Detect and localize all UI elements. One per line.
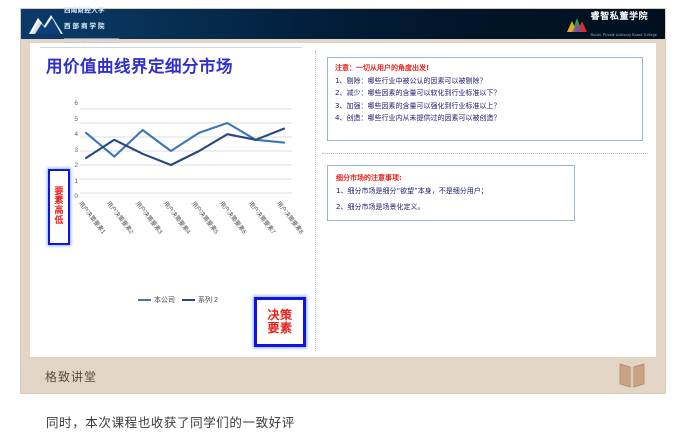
college-name-cn: 睿智私董学院 <box>591 11 649 21</box>
caution-box-heading: 细分市场的注意事项: <box>336 173 566 183</box>
note-box-item: 1、剔除：哪些行业中被公认的因素可以被剔除？ <box>335 77 635 86</box>
slide-content-area: 用价值曲线界定细分市场 6543210 用户决策要素1用户决策要素2用户决策要素… <box>30 43 656 357</box>
chart-y-tick: 2 <box>74 163 78 170</box>
legend-item: 本公司 <box>138 295 175 305</box>
chart-x-tick: 用户决策要素3 <box>134 199 165 236</box>
horizontal-divider <box>322 153 648 154</box>
page-title: 用价值曲线界定细分市场 <box>46 53 233 77</box>
y-axis-annotation-text: 要素高低 <box>54 188 63 227</box>
title-divider <box>40 47 302 48</box>
chart-x-tick: 用户决策要素7 <box>247 199 278 236</box>
legend-swatch <box>138 299 151 301</box>
chart-x-tick: 用户决策要素8 <box>275 199 306 236</box>
y-axis-annotation-box: 要素高低 <box>48 169 70 245</box>
legend-item: 系列 2 <box>182 295 218 305</box>
chart-x-axis-labels: 用户决策要素1用户决策要素2用户决策要素3用户决策要素4用户决策要素5用户决策要… <box>80 199 300 261</box>
caution-box: 细分市场的注意事项: 1、细分市场是细分“欲望”本身，不是细分用户；2、细分市场… <box>327 165 575 221</box>
chart-y-tick: 5 <box>74 117 78 124</box>
chart-x-tick: 用户决策要素2 <box>105 199 136 236</box>
vertical-divider <box>315 51 316 351</box>
note-box-item: 3、加强：哪些因素的含量可以强化到行业标准以上？ <box>335 102 635 111</box>
legend-label: 系列 2 <box>198 295 218 305</box>
chart-x-tick: 用户决策要素1 <box>77 199 108 236</box>
note-box-item: 4、创造：哪些行业内从未提供过的因素可以被创造？ <box>335 114 635 123</box>
note-box-items: 1、剔除：哪些行业中被公认的因素可以被剔除？2、减少：哪些因素的含量可以软化到行… <box>335 77 635 123</box>
college-logo-text: 睿智私董学院 Ruizhi Private Advisory Board Col… <box>591 7 657 41</box>
screenshot-root: 西南财经大学 西部商学院 Western Business School 睿智私… <box>0 0 686 438</box>
note-box: 注意：一切从用户的角度出发! 1、剔除：哪些行业中被公认的因素可以被剔除？2、减… <box>327 57 643 141</box>
chart-x-tick: 用户决策要素6 <box>218 199 249 236</box>
footer-brand-text: 格致讲堂 <box>45 368 97 385</box>
note-box-heading: 注意：一切从用户的角度出发! <box>335 63 635 73</box>
caution-box-item: 2、细分市场是场景化定义。 <box>336 203 566 212</box>
open-book-icon <box>617 361 647 389</box>
chart-x-tick: 用户决策要素5 <box>190 199 221 236</box>
note-box-item: 2、减少：哪些因素的含量可以软化到行业标准以下？ <box>335 89 635 98</box>
university-name-cn: 西南财经大学 <box>64 7 105 14</box>
triangle-mountain-icon <box>566 15 588 33</box>
presentation-slide: 西南财经大学 西部商学院 Western Business School 睿智私… <box>21 9 665 393</box>
chart-y-tick: 6 <box>74 101 78 108</box>
college-logo: 睿智私董学院 Ruizhi Private Advisory Board Col… <box>566 12 657 36</box>
value-curve-chart: 6543210 用户决策要素1用户决策要素2用户决策要素3用户决策要素4用户决策… <box>42 101 304 301</box>
chart-y-tick: 0 <box>74 194 78 201</box>
mountain-icon <box>29 12 63 36</box>
caption-text: 同时，本次课程也收获了同学们的一致好评 <box>46 412 295 431</box>
caution-box-item: 1、细分市场是细分“欲望”本身，不是细分用户； <box>336 187 566 196</box>
college-name-en: Ruizhi Private Advisory Board College <box>591 33 657 37</box>
chart-y-tick: 4 <box>74 132 78 139</box>
slide-header-bar: 西南财经大学 西部商学院 Western Business School 睿智私… <box>21 9 665 39</box>
caution-box-items: 1、细分市场是细分“欲望”本身，不是细分用户；2、细分市场是场景化定义。 <box>336 187 566 212</box>
chart-y-tick: 3 <box>74 148 78 155</box>
chart-y-tick: 1 <box>74 179 78 186</box>
x-axis-annotation-box: 决策要素 <box>254 297 306 347</box>
legend-swatch <box>182 299 195 301</box>
university-logo: 西南财经大学 西部商学院 Western Business School <box>29 11 125 37</box>
university-school-cn: 西部商学院 <box>64 23 107 30</box>
legend-label: 本公司 <box>154 295 175 305</box>
chart-plot-area <box>80 105 292 197</box>
chart-legend: 本公司系列 2 <box>138 295 218 305</box>
university-logo-text: 西南财经大学 西部商学院 Western Business School <box>64 0 119 48</box>
chart-x-tick: 用户决策要素4 <box>162 199 193 236</box>
chart-svg <box>80 105 292 201</box>
x-axis-annotation-text: 决策要素 <box>267 309 292 336</box>
slide-footer-bar: 格致讲堂 <box>21 357 665 393</box>
